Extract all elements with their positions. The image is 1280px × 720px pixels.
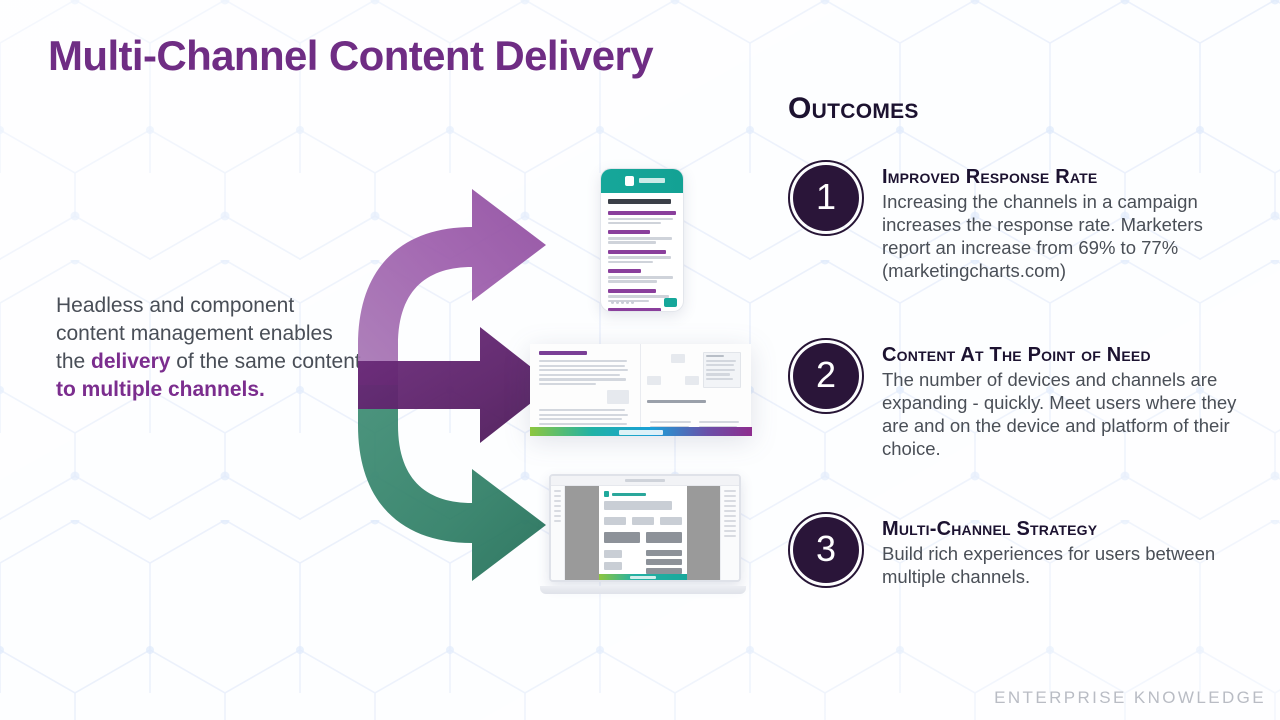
outcome-heading: Improved Response Rate: [882, 166, 1242, 189]
outcome-heading: Content At The Point of Need: [882, 344, 1242, 367]
laptop-base: [540, 586, 746, 594]
outcome-heading: Multi-Channel Strategy: [882, 518, 1242, 541]
badge-disc: 1: [793, 165, 859, 231]
list-item: [608, 308, 676, 312]
outcome-item-2: 2 Content At The Point of Need The numbe…: [788, 338, 1242, 460]
lead-text-part-2: of the same content: [170, 350, 360, 373]
lead-emphasis-channels: to multiple channels.: [56, 378, 265, 401]
badge-disc: 2: [793, 343, 859, 409]
outcome-number-badge-3: 3: [788, 512, 864, 588]
brochure-footer-logo: [619, 430, 663, 435]
outcome-body: The number of devices and channels are e…: [882, 368, 1242, 460]
cms-right-panel: [687, 486, 721, 581]
outcome-number-badge-1: 1: [788, 160, 864, 236]
brochure-left-page: [530, 344, 641, 436]
mobile-app-logo-icon: [625, 176, 634, 186]
brochure-right-page: [641, 344, 751, 436]
cms-workspace: [551, 486, 739, 581]
list-item: [608, 230, 676, 243]
outcome-number-badge-2: 2: [788, 338, 864, 414]
mobile-app-name: [639, 178, 665, 183]
cms-form-title: [604, 491, 682, 497]
badge-disc: 3: [793, 517, 859, 583]
outcome-text-2: Content At The Point of Need The number …: [882, 338, 1242, 460]
list-item: [608, 250, 676, 263]
badge-number: 2: [816, 357, 836, 395]
cms-form-area: [599, 486, 687, 581]
list-item: [608, 211, 676, 224]
lead-paragraph: Headless and component content managemen…: [56, 292, 366, 404]
cms-footer-bar: [599, 574, 687, 581]
laptop-screen: [549, 474, 741, 582]
arrow-to-mobile: [358, 189, 546, 385]
arrow-to-desktop: [358, 385, 546, 581]
lead-emphasis-delivery: delivery: [91, 350, 170, 373]
cms-top-bar: [551, 476, 739, 486]
cms-right-rail: [720, 486, 739, 581]
list-item: [608, 269, 676, 282]
mobile-article-list: [601, 193, 683, 312]
badge-number: 3: [816, 531, 836, 569]
mobile-app-header: [601, 169, 683, 193]
brand-footer: ENTERPRISE KNOWLEDGE: [994, 688, 1266, 708]
outcome-item-3: 3 Multi-Channel Strategy Build rich expe…: [788, 512, 1242, 588]
brochure-heading: [539, 351, 587, 355]
outcome-text-3: Multi-Channel Strategy Build rich experi…: [882, 512, 1242, 588]
outcomes-heading: Outcomes: [788, 92, 919, 126]
mobile-article-title: [608, 199, 671, 204]
laptop-cms-preview: [540, 474, 746, 594]
mobile-action-button[interactable]: [664, 298, 677, 307]
outcome-text-1: Improved Response Rate Increasing the ch…: [882, 160, 1242, 282]
print-brochure-preview: [530, 344, 752, 436]
pagination-dots: [611, 301, 634, 304]
mobile-device-preview: [600, 168, 684, 312]
outcome-body: Build rich experiences for users between…: [882, 542, 1242, 588]
outcome-item-1: 1 Improved Response Rate Increasing the …: [788, 160, 1242, 282]
cms-left-panel: [565, 486, 599, 581]
cms-left-rail: [551, 486, 565, 581]
badge-number: 1: [816, 179, 836, 217]
page-title: Multi-Channel Content Delivery: [48, 32, 653, 80]
outcome-body: Increasing the channels in a campaign in…: [882, 190, 1242, 282]
slide-canvas: Multi-Channel Content Delivery Headless …: [0, 0, 1280, 720]
mobile-footer-bar: [601, 296, 683, 308]
